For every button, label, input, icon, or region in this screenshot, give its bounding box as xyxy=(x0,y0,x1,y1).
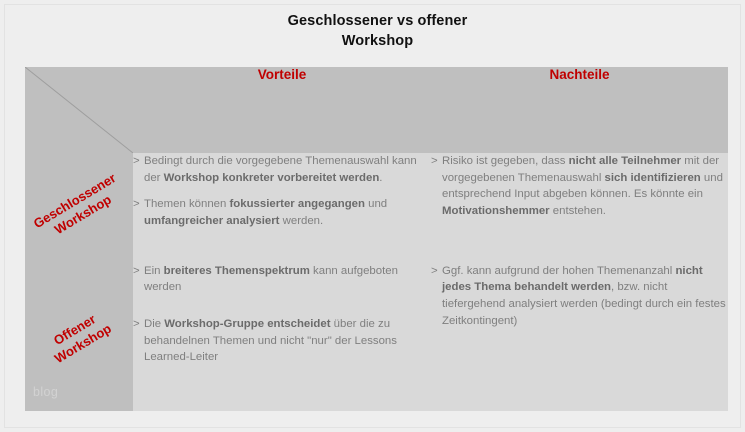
comparison-table: Vorteile Nachteile Geschlossener Worksho… xyxy=(25,67,728,411)
table-header-row: Vorteile Nachteile xyxy=(25,67,728,153)
list-item-text: Themen können fokussierter angegangen un… xyxy=(144,198,387,227)
list-item: > Ein breiteres Themenspektrum kann aufg… xyxy=(133,263,431,296)
list-item: > Bedingt durch die vorgegebene Themenau… xyxy=(133,153,431,186)
column-header-nachteile: Nachteile xyxy=(431,67,728,153)
page-title-line-1: Geschlossener vs offener xyxy=(5,11,745,31)
list-item: > Themen können fokussierter angegangen … xyxy=(133,196,431,229)
row-label-geschlossener-workshop: Geschlossener Workshop xyxy=(25,153,133,263)
chevron-right-icon: > xyxy=(133,316,140,333)
table-corner-cell xyxy=(25,67,133,153)
list-item: > Ggf. kann aufgrund der hohen Themenanz… xyxy=(431,263,728,329)
column-header-vorteile: Vorteile xyxy=(133,67,431,153)
chevron-right-icon: > xyxy=(431,263,438,280)
slide-frame: Geschlossener vs offener Workshop Vortei… xyxy=(4,4,741,428)
cell-geschlossener-nachteile: > Risiko ist gegeben, dass nicht alle Te… xyxy=(431,153,728,263)
chevron-right-icon: > xyxy=(133,196,140,213)
page-title-line-2: Workshop xyxy=(5,31,745,51)
cell-offener-nachteile: > Ggf. kann aufgrund der hohen Themenanz… xyxy=(431,263,728,411)
list-item-text: Risiko ist gegeben, dass nicht alle Teil… xyxy=(442,155,723,217)
table-row: Offener Workshop blog > Ein breiteres Th… xyxy=(25,263,728,411)
list-item: > Risiko ist gegeben, dass nicht alle Te… xyxy=(431,153,728,219)
page-title: Geschlossener vs offener Workshop xyxy=(5,11,745,51)
diagonal-divider-icon xyxy=(25,67,133,153)
chevron-right-icon: > xyxy=(133,263,140,280)
list-item-text: Bedingt durch die vorgegebene Themenausw… xyxy=(144,155,417,184)
list-item-text: Die Workshop-Gruppe entscheidet über die… xyxy=(144,318,397,363)
list-item-text: Ggf. kann aufgrund der hohen Themenanzah… xyxy=(442,265,726,327)
cell-geschlossener-vorteile: > Bedingt durch die vorgegebene Themenau… xyxy=(133,153,431,263)
blog-watermark: blog xyxy=(33,385,58,399)
cell-offener-vorteile: > Ein breiteres Themenspektrum kann aufg… xyxy=(133,263,431,411)
row-label-text: Offener Workshop xyxy=(44,307,115,367)
list-item-text: Ein breiteres Themenspektrum kann aufgeb… xyxy=(144,265,398,294)
row-label-offener-workshop: Offener Workshop blog xyxy=(25,263,133,411)
list-item: > Die Workshop-Gruppe entscheidet über d… xyxy=(133,316,431,366)
chevron-right-icon: > xyxy=(431,153,438,170)
row-label-text: Geschlossener Workshop xyxy=(31,170,127,245)
chevron-right-icon: > xyxy=(133,153,140,170)
table-row: Geschlossener Workshop > Bedingt durch d… xyxy=(25,153,728,263)
